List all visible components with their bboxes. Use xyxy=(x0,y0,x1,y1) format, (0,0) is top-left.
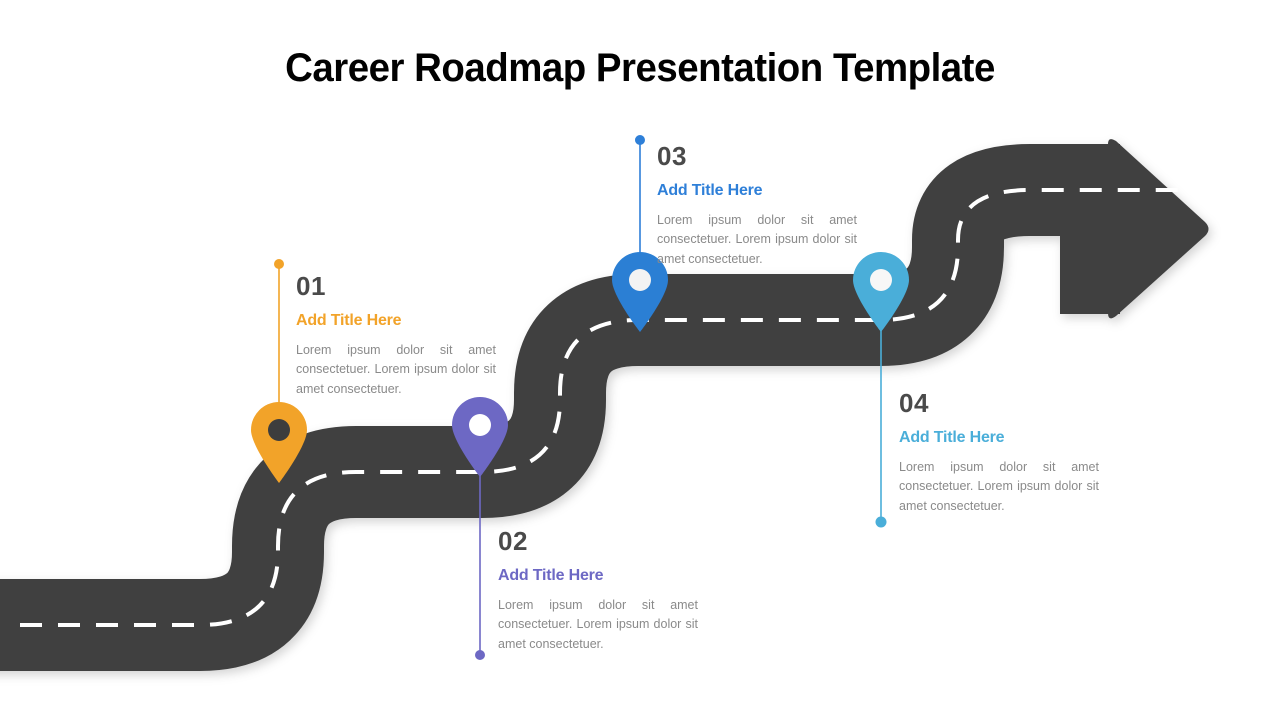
step-block-02: 02 Add Title Here Lorem ipsum dolor sit … xyxy=(498,528,698,654)
step-body[interactable]: Lorem ipsum dolor sit amet consectetuer.… xyxy=(899,458,1099,516)
step-title[interactable]: Add Title Here xyxy=(498,568,698,584)
step-number: 01 xyxy=(296,273,496,299)
step-number: 03 xyxy=(657,143,857,169)
step-block-01: 01 Add Title Here Lorem ipsum dolor sit … xyxy=(296,273,496,399)
step-body[interactable]: Lorem ipsum dolor sit amet consectetuer.… xyxy=(498,596,698,654)
step-body[interactable]: Lorem ipsum dolor sit amet consectetuer.… xyxy=(657,211,857,269)
step-number: 04 xyxy=(899,390,1099,416)
step-title[interactable]: Add Title Here xyxy=(657,183,857,199)
step-title[interactable]: Add Title Here xyxy=(296,313,496,329)
step-block-03: 03 Add Title Here Lorem ipsum dolor sit … xyxy=(657,143,857,269)
step-body[interactable]: Lorem ipsum dolor sit amet consectetuer.… xyxy=(296,341,496,399)
step-title[interactable]: Add Title Here xyxy=(899,430,1099,446)
step-block-04: 04 Add Title Here Lorem ipsum dolor sit … xyxy=(899,390,1099,516)
roadmap-slide: Career Roadmap Presentation Template xyxy=(0,0,1280,720)
step-number: 02 xyxy=(498,528,698,554)
